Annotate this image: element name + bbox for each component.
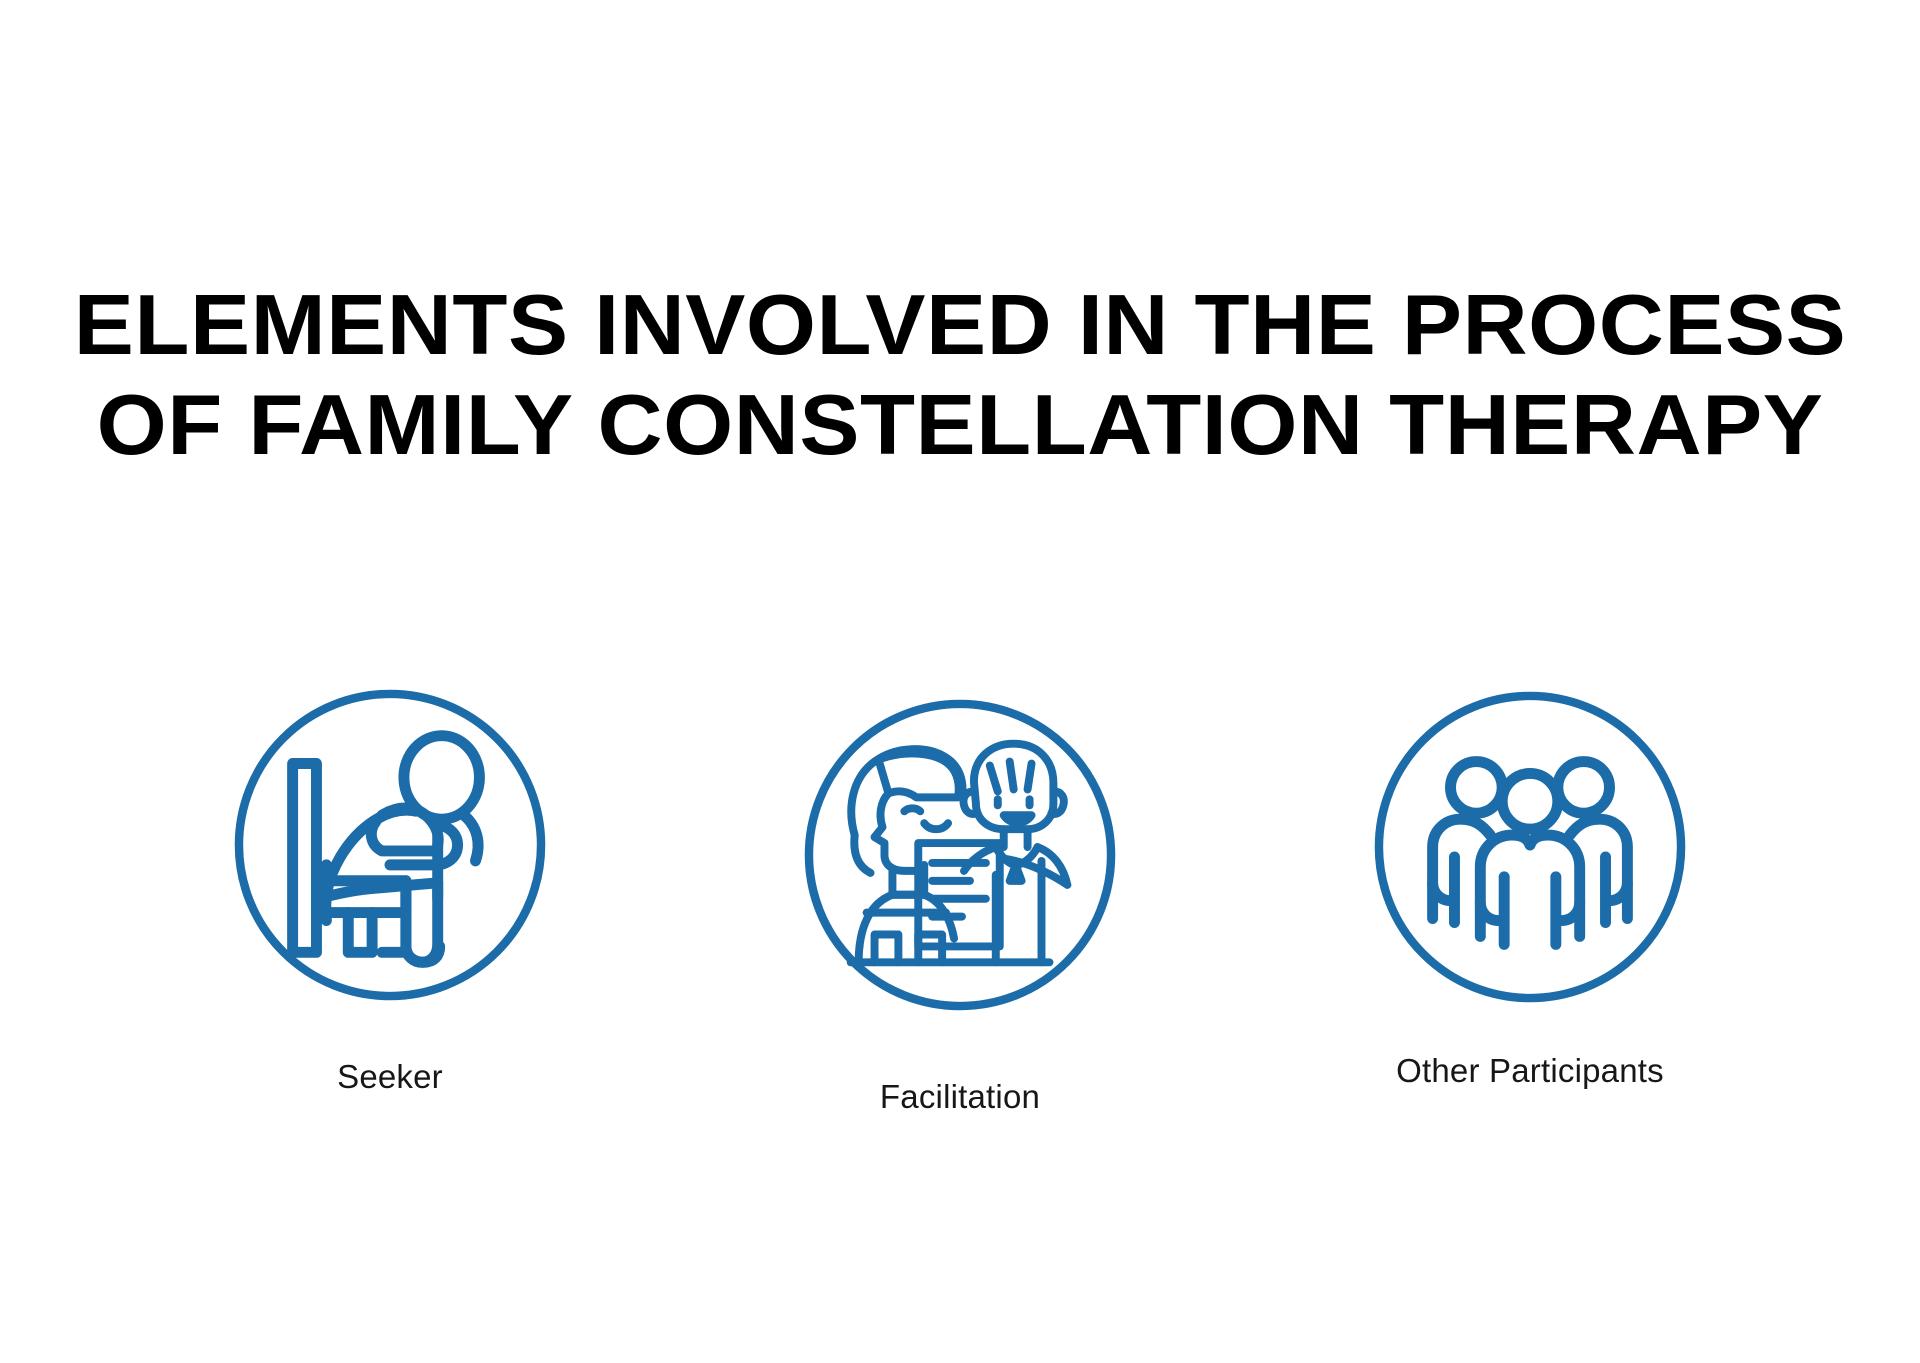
element-label-seeker: Seeker [337,1058,443,1096]
page-title: ELEMENTS INVOLVED IN THE PROCESS OF FAMI… [0,276,1920,476]
element-item-facilitation[interactable]: Facilitation [675,686,1245,1116]
element-label-other-participants: Other Participants [1396,1052,1664,1090]
two-people-facilitator-icon [801,696,1119,1014]
element-label-facilitation: Facilitation [880,1078,1040,1116]
slide-canvas: ELEMENTS INVOLVED IN THE PROCESS OF FAMI… [0,0,1920,1363]
element-item-seeker[interactable]: Seeker [105,686,675,1096]
page-title-line-1: ELEMENTS INVOLVED IN THE PROCESS [0,276,1920,376]
elements-row: Seeker [0,686,1920,1116]
person-sitting-hunched-on-chair-icon [231,686,549,1004]
page-title-line-2: OF FAMILY CONSTELLATION THERAPY [0,376,1920,476]
element-item-other-participants[interactable]: Other Participants [1245,686,1815,1090]
group-of-three-people-icon [1371,688,1689,1006]
